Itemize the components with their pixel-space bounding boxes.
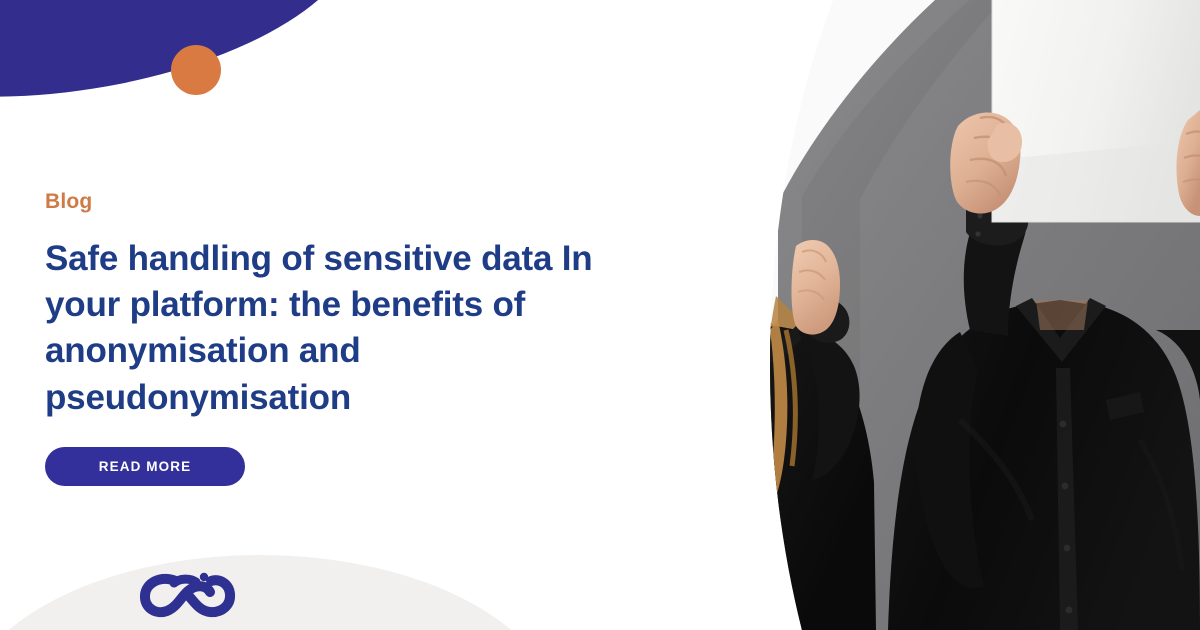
infinity-cloud-logo[interactable]: [136, 565, 248, 620]
orange-dot: [171, 45, 221, 95]
page-title: Safe handling of sensitive data In your …: [45, 236, 615, 421]
blog-promo-banner: Blog Safe handling of sensitive data In …: [0, 0, 1200, 630]
read-more-button[interactable]: READ MORE: [45, 447, 245, 486]
category-eyebrow: Blog: [45, 190, 645, 214]
grey-blob: [0, 555, 560, 630]
banner-content: Blog Safe handling of sensitive data In …: [45, 190, 645, 486]
